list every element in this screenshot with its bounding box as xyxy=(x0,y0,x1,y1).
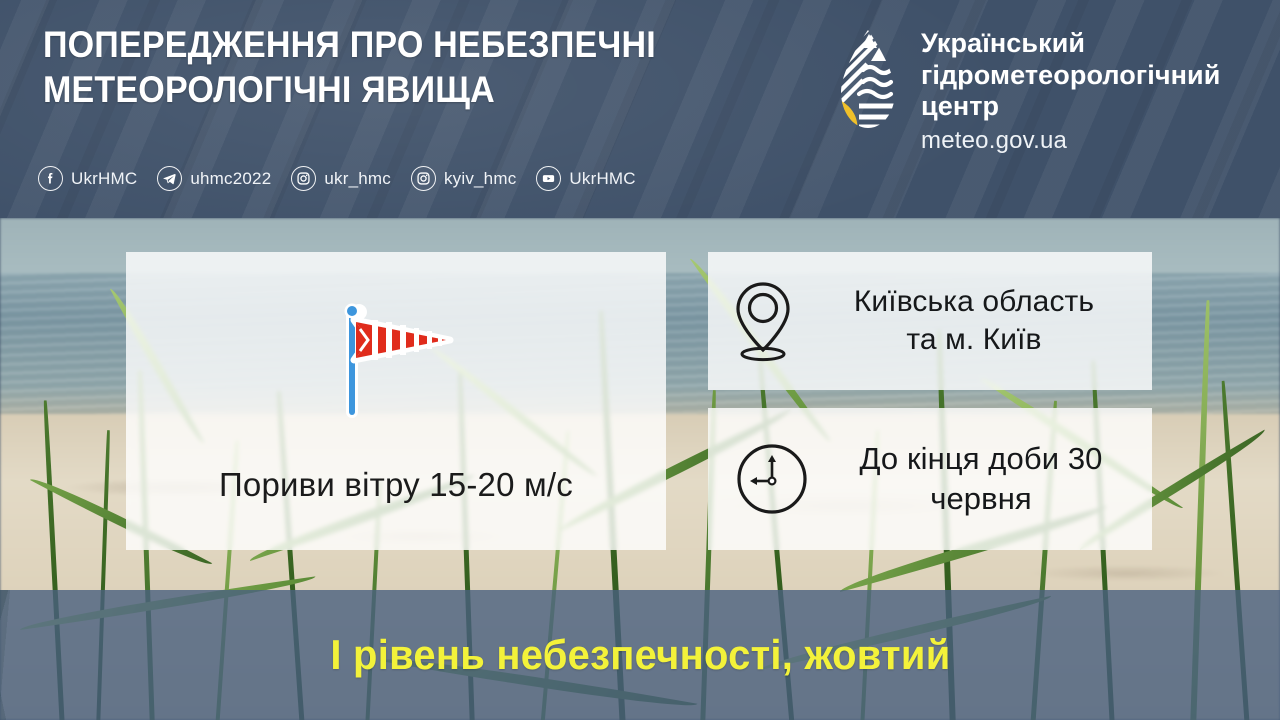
clock-icon xyxy=(734,441,810,517)
wind-warning-text: Пориви вітру 15-20 м/с xyxy=(126,466,666,504)
social-label-telegram: uhmc2022 xyxy=(190,169,271,189)
wind-pennant-flag-icon xyxy=(338,294,454,420)
social-label-instagram-ukr: ukr_hmc xyxy=(324,169,391,189)
map-pin-icon xyxy=(732,280,794,362)
page-title-line-1: ПОПЕРЕДЖЕННЯ ПРО НЕБЕЗПЕЧНІ xyxy=(43,22,761,67)
social-label-facebook: UkrHMC xyxy=(71,169,137,189)
water-droplet-logo-icon xyxy=(833,28,903,132)
logo-text: Український гідрометеорологічний центр m… xyxy=(921,28,1220,155)
logo-website-url[interactable]: meteo.gov.ua xyxy=(921,127,1220,155)
telegram-icon xyxy=(157,166,182,191)
social-link-instagram-kyiv[interactable]: kyiv_hmc xyxy=(411,166,516,191)
danger-level-text: І рівень небезпечності, жовтий xyxy=(330,631,950,679)
danger-level-banner: І рівень небезпечності, жовтий xyxy=(0,590,1280,720)
logo-title-line-3: центр xyxy=(921,91,1220,123)
card-valid-period: До кінця доби 30 червня xyxy=(708,408,1152,550)
social-link-facebook[interactable]: UkrHMC xyxy=(38,166,137,191)
social-link-telegram[interactable]: uhmc2022 xyxy=(157,166,271,191)
social-link-youtube[interactable]: UkrHMC xyxy=(536,166,635,191)
header-band: ПОПЕРЕДЖЕННЯ ПРО НЕБЕЗПЕЧНІ МЕТЕОРОЛОГІЧ… xyxy=(0,0,1280,218)
weather-warning-poster: ПОПЕРЕДЖЕННЯ ПРО НЕБЕЗПЕЧНІ МЕТЕОРОЛОГІЧ… xyxy=(0,0,1280,720)
valid-period-line-2: червня xyxy=(826,479,1136,519)
page-title-line-2: МЕТЕОРОЛОГІЧНІ ЯВИЩА xyxy=(43,67,761,112)
instagram-icon xyxy=(291,166,316,191)
instagram-icon xyxy=(411,166,436,191)
social-links: UkrHMC uhmc2022 ukr_hm xyxy=(38,166,656,191)
logo-title: Український гідрометеорологічний центр xyxy=(921,28,1220,123)
valid-period-line-1: До кінця доби 30 xyxy=(826,439,1136,479)
logo-title-line-2: гідрометеорологічний xyxy=(921,60,1220,92)
social-label-instagram-kyiv: kyiv_hmc xyxy=(444,169,516,189)
region-line-2: та м. Київ xyxy=(812,321,1136,359)
page-title: ПОПЕРЕДЖЕННЯ ПРО НЕБЕЗПЕЧНІ МЕТЕОРОЛОГІЧ… xyxy=(43,22,761,112)
region-line-1: Київська область xyxy=(812,283,1136,321)
card-affected-region: Київська область та м. Київ xyxy=(708,252,1152,390)
card-wind-warning: Пориви вітру 15-20 м/с xyxy=(126,252,666,550)
social-link-instagram-ukr[interactable]: ukr_hmc xyxy=(291,166,391,191)
logo-title-line-1: Український xyxy=(921,28,1220,60)
facebook-icon xyxy=(38,166,63,191)
organization-logo[interactable]: Український гідрометеорологічний центр m… xyxy=(833,28,1220,155)
valid-period-text: До кінця доби 30 червня xyxy=(826,439,1136,519)
youtube-icon xyxy=(536,166,561,191)
region-text: Київська область та м. Київ xyxy=(812,283,1136,359)
social-label-youtube: UkrHMC xyxy=(569,169,635,189)
